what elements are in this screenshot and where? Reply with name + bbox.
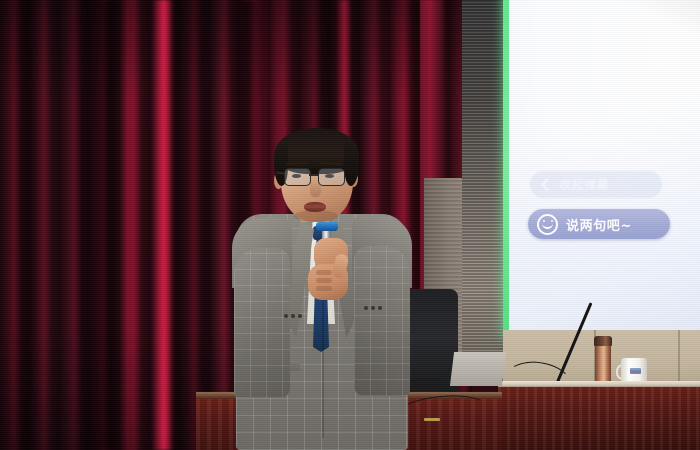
laptop-computer xyxy=(450,352,506,386)
chin-shadow xyxy=(294,210,338,222)
eyeglass-bridge xyxy=(309,174,318,176)
finger-crease xyxy=(316,270,332,275)
collapse-danmaku-button[interactable]: 收起弹幕 xyxy=(530,171,662,198)
post-comment-button[interactable]: 说两句吧~ xyxy=(528,209,670,239)
suit-seam xyxy=(322,278,324,438)
finger-crease xyxy=(316,286,332,291)
eyeglass-lens-left xyxy=(284,168,311,186)
curtain-fold-highlight xyxy=(152,0,174,450)
microphone-ring xyxy=(316,222,338,231)
mug-logo xyxy=(630,368,641,374)
eyeglass-lens-right xyxy=(318,168,345,186)
finger-crease xyxy=(316,278,332,283)
panel-seam xyxy=(678,330,680,384)
sleeve-buttons xyxy=(284,314,302,318)
sleeve-buttons xyxy=(364,306,382,310)
thermos-cap xyxy=(594,336,612,346)
sleeve-check-pattern xyxy=(354,246,410,396)
post-comment-label: 说两句吧~ xyxy=(566,215,632,234)
nose xyxy=(310,180,321,197)
speaker-figure xyxy=(236,128,408,450)
projection-screen-glare xyxy=(509,0,700,330)
photo-scene: 收起弹幕 说两句吧~ xyxy=(0,0,700,450)
smiley-face-icon xyxy=(537,214,558,235)
sleeve-check-pattern xyxy=(234,248,290,398)
collapse-danmaku-label: 收起弹幕 xyxy=(559,176,609,193)
louvered-panel xyxy=(462,0,508,360)
thermos-flask xyxy=(595,345,611,384)
curtain-fold-shadow xyxy=(96,0,122,450)
chevron-left-icon xyxy=(541,178,554,191)
